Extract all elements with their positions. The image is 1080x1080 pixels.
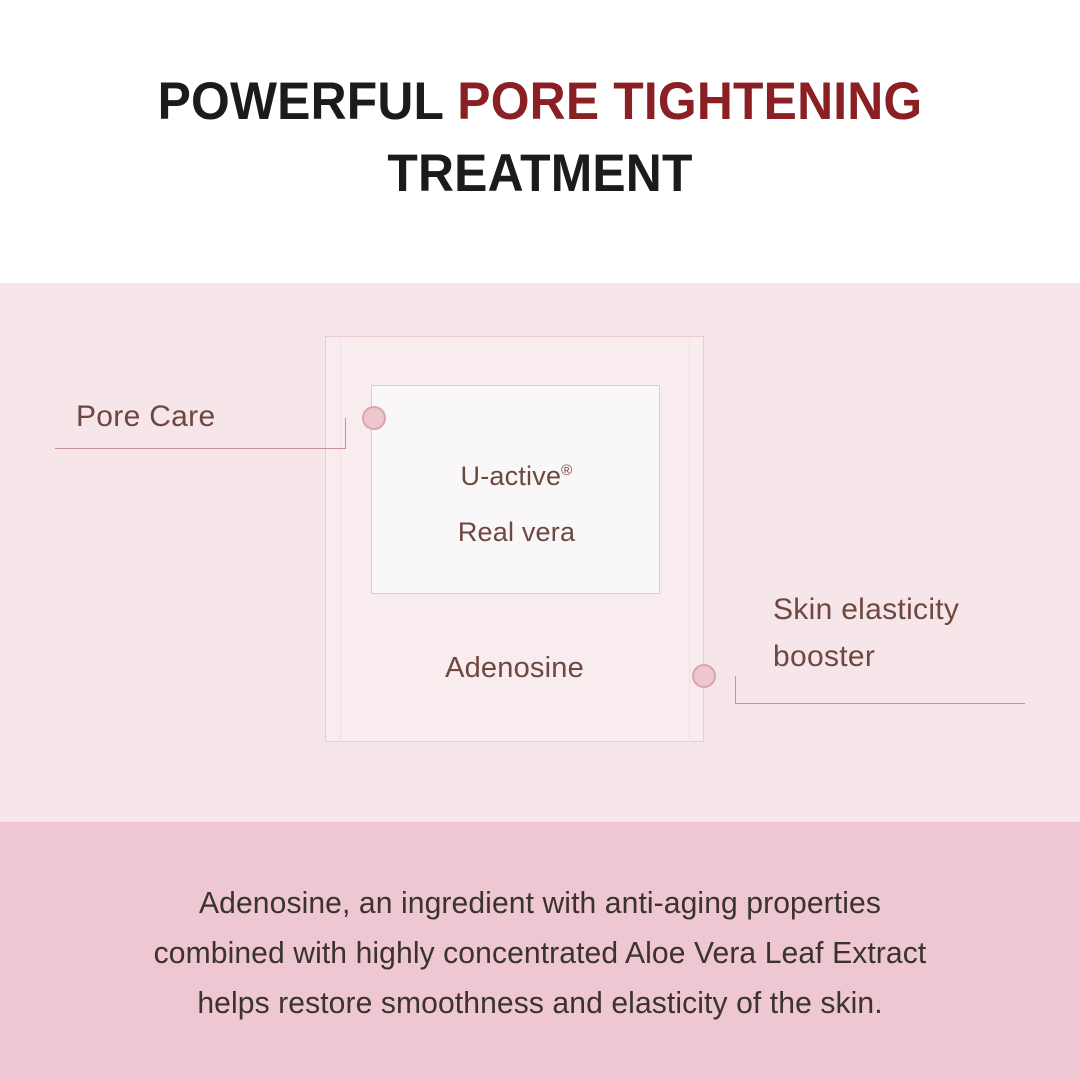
- callout-right-line2: booster: [773, 633, 1063, 680]
- description-line-2: combined with highly concentrated Aloe V…: [16, 928, 1064, 978]
- callout-marker-dot-left: [362, 406, 386, 430]
- callout-label-pore-care: Pore Care: [76, 396, 215, 438]
- registered-trademark-icon: ®: [561, 462, 572, 479]
- product-name: U-active: [461, 461, 562, 491]
- title-line2: TREATMENT: [32, 138, 1047, 210]
- callout-leader-line-right: [735, 703, 1025, 704]
- callout-marker-dot-right: [692, 664, 716, 688]
- description-paragraph: Adenosine, an ingredient with anti-aging…: [16, 878, 1064, 1028]
- title-line1-plain: POWERFUL: [158, 72, 458, 131]
- page-title: POWERFUL PORE TIGHTENING TREATMENT: [32, 66, 1047, 210]
- product-label-panel: U-active® Real vera: [371, 385, 660, 594]
- diagram-band: U-active® Real vera Adenosine Pore Care …: [0, 283, 1080, 822]
- callout-leader-line-left: [55, 448, 345, 449]
- product-label-text: U-active® Real vera: [372, 443, 661, 560]
- description-line-1: Adenosine, an ingredient with anti-aging…: [16, 878, 1064, 928]
- product-infographic: POWERFUL PORE TIGHTENING TREATMENT U-act…: [0, 0, 1080, 1080]
- callout-leader-riser-right: [735, 676, 736, 704]
- title-line1-accent: PORE TIGHTENING: [457, 72, 922, 131]
- callout-right-line1: Skin elasticity: [773, 586, 1063, 633]
- product-subtitle: Real vera: [372, 504, 661, 560]
- callout-label-skin-elasticity-booster: Skin elasticity booster: [773, 586, 1063, 680]
- header-band: POWERFUL PORE TIGHTENING TREATMENT: [0, 0, 1080, 283]
- footer-band: Adenosine, an ingredient with anti-aging…: [0, 822, 1080, 1080]
- callout-leader-riser-left: [345, 418, 346, 449]
- product-name-line: U-active®: [372, 443, 661, 504]
- description-line-3: helps restore smoothness and elasticity …: [16, 978, 1064, 1028]
- ingredient-label-adenosine: Adenosine: [325, 647, 704, 689]
